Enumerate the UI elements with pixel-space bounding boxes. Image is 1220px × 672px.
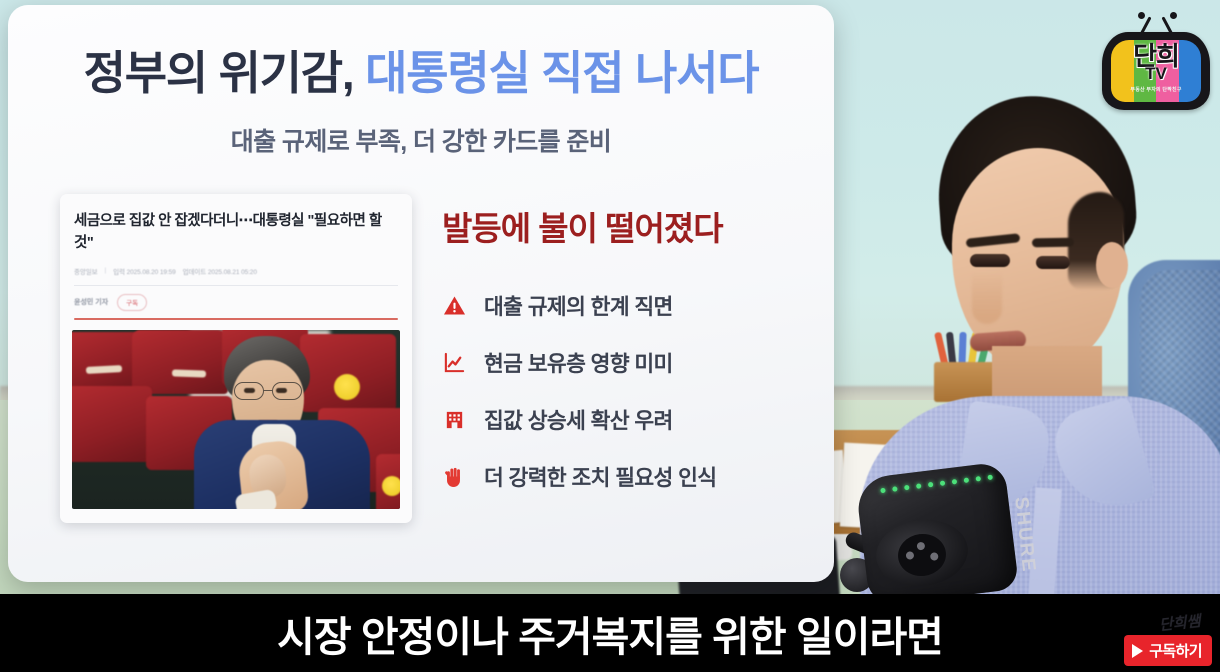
bullet-text: 더 강력한 조치 필요성 인식 [484,461,716,492]
glasses-icon [232,382,306,401]
bullet-item: 집값 상승세 확산 우려 [442,404,810,435]
news-source: 중앙일보 [74,266,98,276]
eyebrow [1032,238,1074,248]
bullet-item: 현금 보유층 영향 미미 [442,347,810,378]
news-headline: 세금으로 집값 안 잡겠다더니⋯대통령실 "필요하면 할 것" [60,194,412,254]
news-photo-subject [200,336,350,509]
slide-title-part1: 정부의 위기감, [84,47,354,99]
bullet-list: 대출 규제의 한계 직면 현금 보유층 영향 미미 [442,290,810,492]
subtitle-caption: 시장 안정이나 주거복지를 위한 일이라면 [277,603,943,663]
bullet-text: 현금 보유층 영향 미미 [484,347,673,378]
news-article-card: 세금으로 집값 안 잡겠다더니⋯대통령실 "필요하면 할 것" 중앙일보 | 입… [60,194,412,523]
warning-triangle-icon [442,293,466,317]
building-icon [442,407,466,431]
slide-body: 세금으로 집값 안 잡겠다더니⋯대통령실 "필요하면 할 것" 중앙일보 | 입… [8,194,834,523]
news-reporter: 윤성민 기자 [74,297,108,307]
slide-title: 정부의 위기감, 대통령실 직접 나서다 [8,47,834,100]
subtitle-bar: 시장 안정이나 주거복지를 위한 일이라면 [0,594,1220,672]
panel-heading: 발등에 불이 떨어졌다 [442,202,810,250]
subscribe-overlay: 단희쌤 구독하기 [1096,612,1214,670]
eye [1036,256,1070,269]
bullet-item: 더 강력한 조치 필요성 인식 [442,461,810,492]
news-updated: 업데이트 2025.08.21 05:20 [183,266,257,276]
key-points-panel: 발등에 불이 떨어졌다 대출 규제의 한계 직면 [442,194,810,523]
bullet-text: 집값 상승세 확산 우려 [484,404,673,435]
presentation-slide: 정부의 위기감, 대통령실 직접 나서다 대출 규제로 부족, 더 강한 카드를… [8,5,834,582]
news-byline: 윤성민 기자 구독 [60,286,412,311]
seat-sticker [382,476,400,496]
eye [970,254,1010,267]
news-published: 입력 2025.08.20 19:59 [113,266,175,276]
logo-tv-word: TV [1102,64,1210,84]
video-frame: SHURE 정부의 위기감, 대통령실 직접 나서다 대출 규제로 부족, 더 … [0,0,1220,672]
subscribe-button[interactable]: 구독하기 [1124,635,1212,666]
news-subscribe-badge[interactable]: 구독 [117,294,147,311]
host-signature: 단희쌤 [1158,610,1201,635]
news-photo [72,330,400,509]
news-meta-separator: | [105,267,107,274]
subscribe-label: 구독하기 [1149,640,1202,661]
slide-title-part2: 대통령실 직접 나서다 [365,47,758,99]
channel-logo[interactable]: 단희 TV 부동산 부자의 단짝친구 [1100,14,1212,110]
logo-tagline: 부동산 부자의 단짝친구 [1102,86,1210,93]
news-accent-rule [74,318,398,320]
chart-line-icon [442,350,466,374]
auditorium-seat [72,386,152,462]
tv-body-icon: 단희 TV 부동산 부자의 단짝친구 [1102,32,1210,110]
nose [972,272,1002,324]
auditorium-seat [72,332,140,390]
bullet-item: 대출 규제의 한계 직면 [442,290,810,321]
slide-subtitle: 대출 규제로 부족, 더 강한 카드를 준비 [8,122,834,158]
raised-hand-icon [442,464,466,488]
play-triangle-icon [1132,644,1143,658]
news-meta: 중앙일보 | 입력 2025.08.20 19:59 업데이트 2025.08.… [60,254,412,276]
ear [1096,242,1128,288]
bullet-text: 대출 규제의 한계 직면 [484,290,673,321]
